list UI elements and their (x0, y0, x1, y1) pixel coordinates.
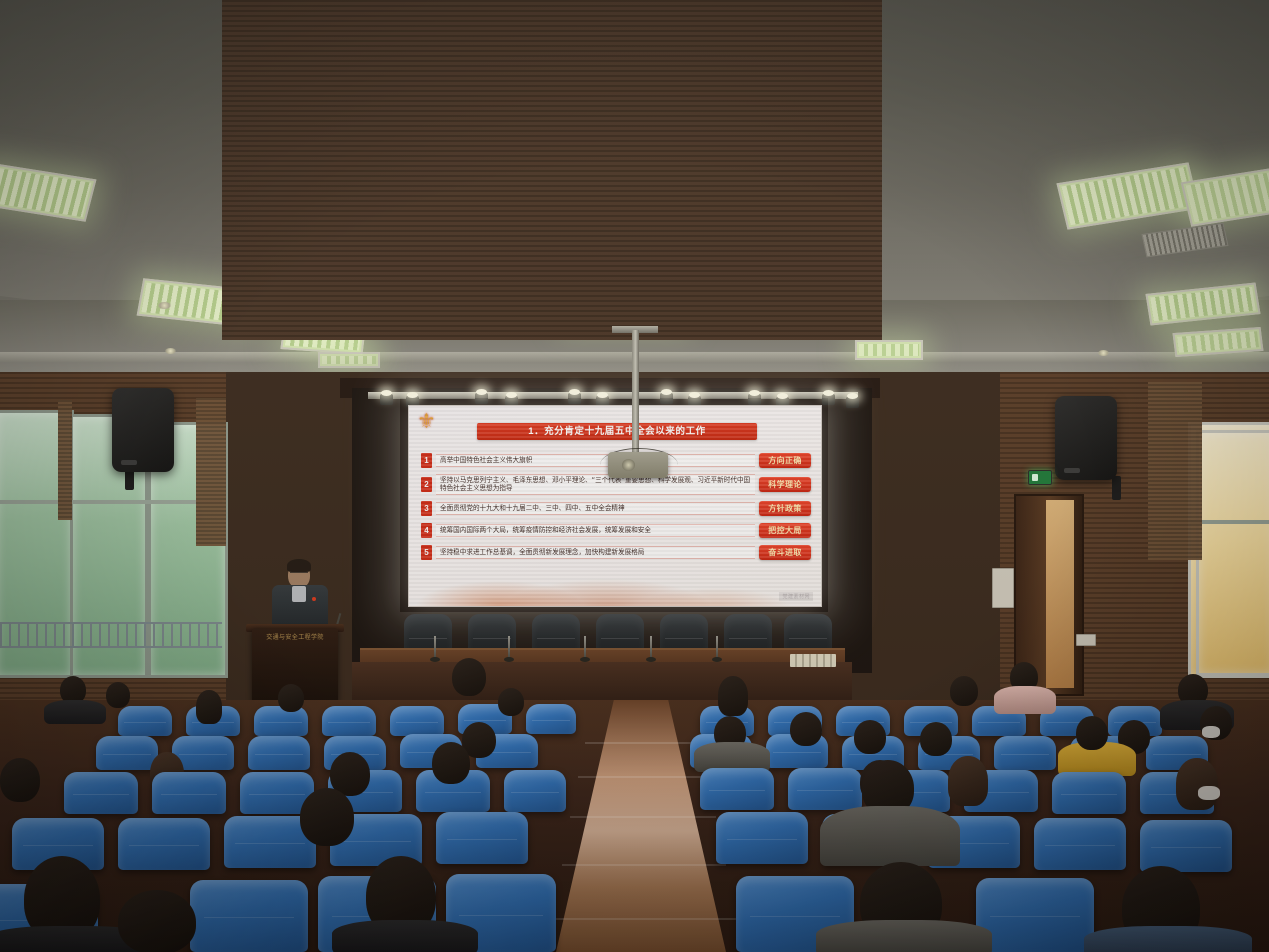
door-glass-panel (1046, 500, 1074, 688)
audience-head (196, 690, 222, 724)
cpc-hammer-sickle-emblem: ⚜ (417, 410, 443, 434)
audience-head-foreground (118, 890, 196, 952)
seat (716, 812, 808, 864)
seat (248, 736, 310, 770)
emergency-exit-icon (1028, 470, 1052, 485)
row-number: 2 (421, 477, 432, 492)
audience-head (1076, 716, 1108, 750)
audience-head (432, 742, 470, 784)
seat (976, 878, 1094, 952)
audience-head (1176, 758, 1218, 810)
speaker-shirt (292, 586, 306, 602)
podium-plaque-text: 交通与安全工程学院 (256, 634, 334, 642)
audience-shoulders (44, 700, 106, 724)
audience-head (452, 658, 486, 696)
audience-head (0, 758, 40, 802)
window-right-inner (1196, 430, 1269, 676)
row-text: 高举中国特色社会主义伟大旗帜 (436, 454, 755, 466)
slide-watermark: 党建素材网 (779, 592, 813, 601)
speaker-mount-right (1112, 476, 1121, 500)
ceiling-light-panel (855, 340, 923, 360)
window-blinds-right (1148, 382, 1202, 560)
seat (1052, 772, 1126, 814)
audience-shoulders (994, 686, 1056, 714)
speaker-glasses (290, 572, 308, 577)
track-spotlight (846, 397, 859, 408)
row-text: 统筹国内国际两个大局，统筹疫情防控和经济社会发展，统筹发展和安全 (436, 524, 755, 536)
audience-shoulders-foreground (1084, 926, 1252, 952)
stage-platform (352, 662, 852, 704)
window-blinds-left-2 (196, 398, 226, 546)
slide-row: 4 统筹国内国际两个大局，统筹疫情防控和经济社会发展，统筹发展和安全 把控大局 (421, 522, 811, 539)
row-number: 4 (421, 523, 432, 538)
seat (700, 768, 774, 810)
projector-lens-icon (622, 459, 635, 471)
projector-pole (632, 330, 639, 458)
table-microphone (650, 636, 652, 658)
ceiling-downlight (158, 302, 171, 309)
track-spotlight (380, 394, 393, 405)
table-microphone (584, 636, 586, 658)
slide-row: 3 全面贯彻党的十九大和十九届二中、三中、四中、五中全会精神 方针政策 (421, 500, 811, 517)
seat (390, 706, 444, 736)
door-push-plate (1076, 634, 1096, 646)
wall-notice-plaque (992, 568, 1014, 608)
seat (254, 706, 308, 736)
audience-head (950, 676, 978, 706)
seat (64, 772, 138, 814)
auditorium-photo: ⚜ 1．充分肯定十九届五中全会以来的工作 1 高举中国特色社会主义伟大旗帜 方向… (0, 0, 1269, 952)
table-microphone (716, 636, 718, 658)
left-wall-speaker (112, 388, 174, 472)
row-number: 1 (421, 453, 432, 468)
audience-shoulders-foreground (816, 920, 992, 952)
seat (152, 772, 226, 814)
audience-shoulders (820, 806, 960, 866)
ceiling-downlight (1098, 350, 1109, 356)
audience-head (920, 722, 952, 756)
row-text: 坚持以马克思列宁主义、毛泽东思想、邓小平理论、“三个代表”重要思想、科学发展观、… (436, 474, 755, 495)
slide-row: 5 坚持稳中求进工作总基调，全面贯彻新发展理念，加快构建新发展格局 奋斗进取 (421, 544, 811, 561)
row-number: 3 (421, 501, 432, 516)
face-mask (1202, 726, 1220, 738)
seat (190, 880, 308, 952)
seat (788, 768, 862, 810)
row-badge: 方向正确 (759, 453, 811, 468)
audience-head (790, 712, 822, 746)
seat (504, 770, 566, 812)
ceiling-light-panel (318, 352, 380, 368)
aisle-step (562, 864, 726, 866)
seat (436, 812, 528, 864)
window-mullion (0, 500, 222, 504)
audience-head (300, 788, 354, 846)
row-number: 5 (421, 545, 432, 560)
paper-cups (790, 654, 836, 667)
table-microphone (508, 636, 510, 658)
seat (322, 706, 376, 736)
window-blinds-left (58, 400, 72, 520)
seat (118, 818, 210, 870)
track-spotlight (660, 393, 673, 404)
seat (96, 736, 158, 770)
seat (1034, 818, 1126, 870)
row-text: 坚持稳中求进工作总基调，全面贯彻新发展理念，加快构建新发展格局 (436, 546, 755, 558)
track-spotlight (475, 393, 488, 404)
row-badge: 奋斗进取 (759, 545, 811, 560)
audience-head (854, 720, 886, 754)
audience-head (106, 682, 130, 708)
seat (1140, 820, 1232, 872)
slide-title: 1．充分肯定十九届五中全会以来的工作 (477, 423, 757, 440)
ceiling-downlight (165, 348, 176, 354)
track-spotlight (568, 393, 581, 404)
aisle-step (570, 816, 716, 818)
face-mask (1198, 786, 1220, 800)
track-spotlight (748, 394, 761, 405)
row-badge: 方针政策 (759, 501, 811, 516)
table-microphone (434, 636, 436, 658)
aisle-step (578, 776, 706, 778)
audience-head (498, 688, 524, 716)
right-wall-speaker (1055, 396, 1117, 480)
projection-screen: ⚜ 1．充分肯定十九届五中全会以来的工作 1 高举中国特色社会主义伟大旗帜 方向… (408, 405, 822, 607)
audience-shoulders-foreground (332, 920, 478, 952)
seat (526, 704, 576, 734)
aisle-step (556, 918, 736, 920)
balcony-rail-left (0, 622, 222, 648)
seat (118, 706, 172, 736)
audience-head (718, 676, 748, 716)
wood-panel-wall (222, 0, 882, 340)
speaker-hair (287, 559, 311, 572)
seat (994, 736, 1056, 770)
aisle-step (585, 742, 697, 744)
row-badge: 科学理论 (759, 477, 811, 492)
row-badge: 把控大局 (759, 523, 811, 538)
speaker-lapel-pin (312, 597, 316, 601)
row-text: 全面贯彻党的十九大和十九届二中、三中、四中、五中全会精神 (436, 502, 755, 514)
track-spotlight (822, 394, 835, 405)
audience-head (278, 684, 304, 712)
ceiling-projector-icon (608, 452, 668, 478)
audience-head (948, 756, 988, 806)
